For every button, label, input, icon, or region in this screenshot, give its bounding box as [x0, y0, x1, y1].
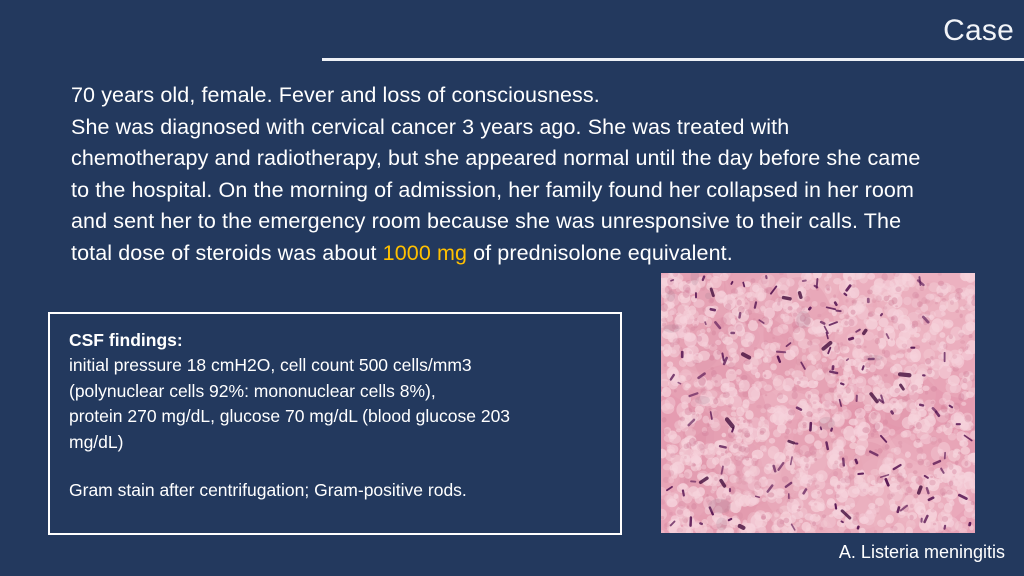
csf-findings-line: (polynuclear cells 92%: mononuclear cell…: [69, 379, 602, 405]
case-narrative: 70 years old, female. Fever and loss of …: [71, 80, 927, 269]
csf-findings-heading: CSF findings:: [69, 328, 602, 353]
narrative-line-1: 70 years old, female. Fever and loss of …: [71, 80, 927, 112]
gram-stain-micrograph: [661, 273, 975, 533]
narrative-line-2: She was diagnosed with cervical cancer 3…: [71, 112, 927, 270]
csf-findings-line: protein 270 mg/dL, glucose 70 mg/dL (blo…: [69, 404, 602, 430]
csf-findings-box: CSF findings: initial pressure 18 cmH2O,…: [48, 312, 622, 535]
narrative-text-after-dose: of prednisolone equivalent.: [467, 241, 733, 265]
steroid-dose-highlight: 1000 mg: [383, 241, 467, 265]
gram-stain-note: Gram stain after centrifugation; Gram-po…: [69, 478, 602, 504]
page-title: Case: [943, 16, 1014, 46]
csf-findings-line: mg/dL): [69, 430, 602, 456]
csf-box-spacer: [69, 455, 602, 478]
csf-findings-line: initial pressure 18 cmH2O, cell count 50…: [69, 353, 602, 379]
gram-stain-micrograph-canvas: [661, 273, 975, 533]
micrograph-caption: A. Listeria meningitis: [661, 540, 1014, 564]
title-divider-rule: [322, 58, 1024, 61]
